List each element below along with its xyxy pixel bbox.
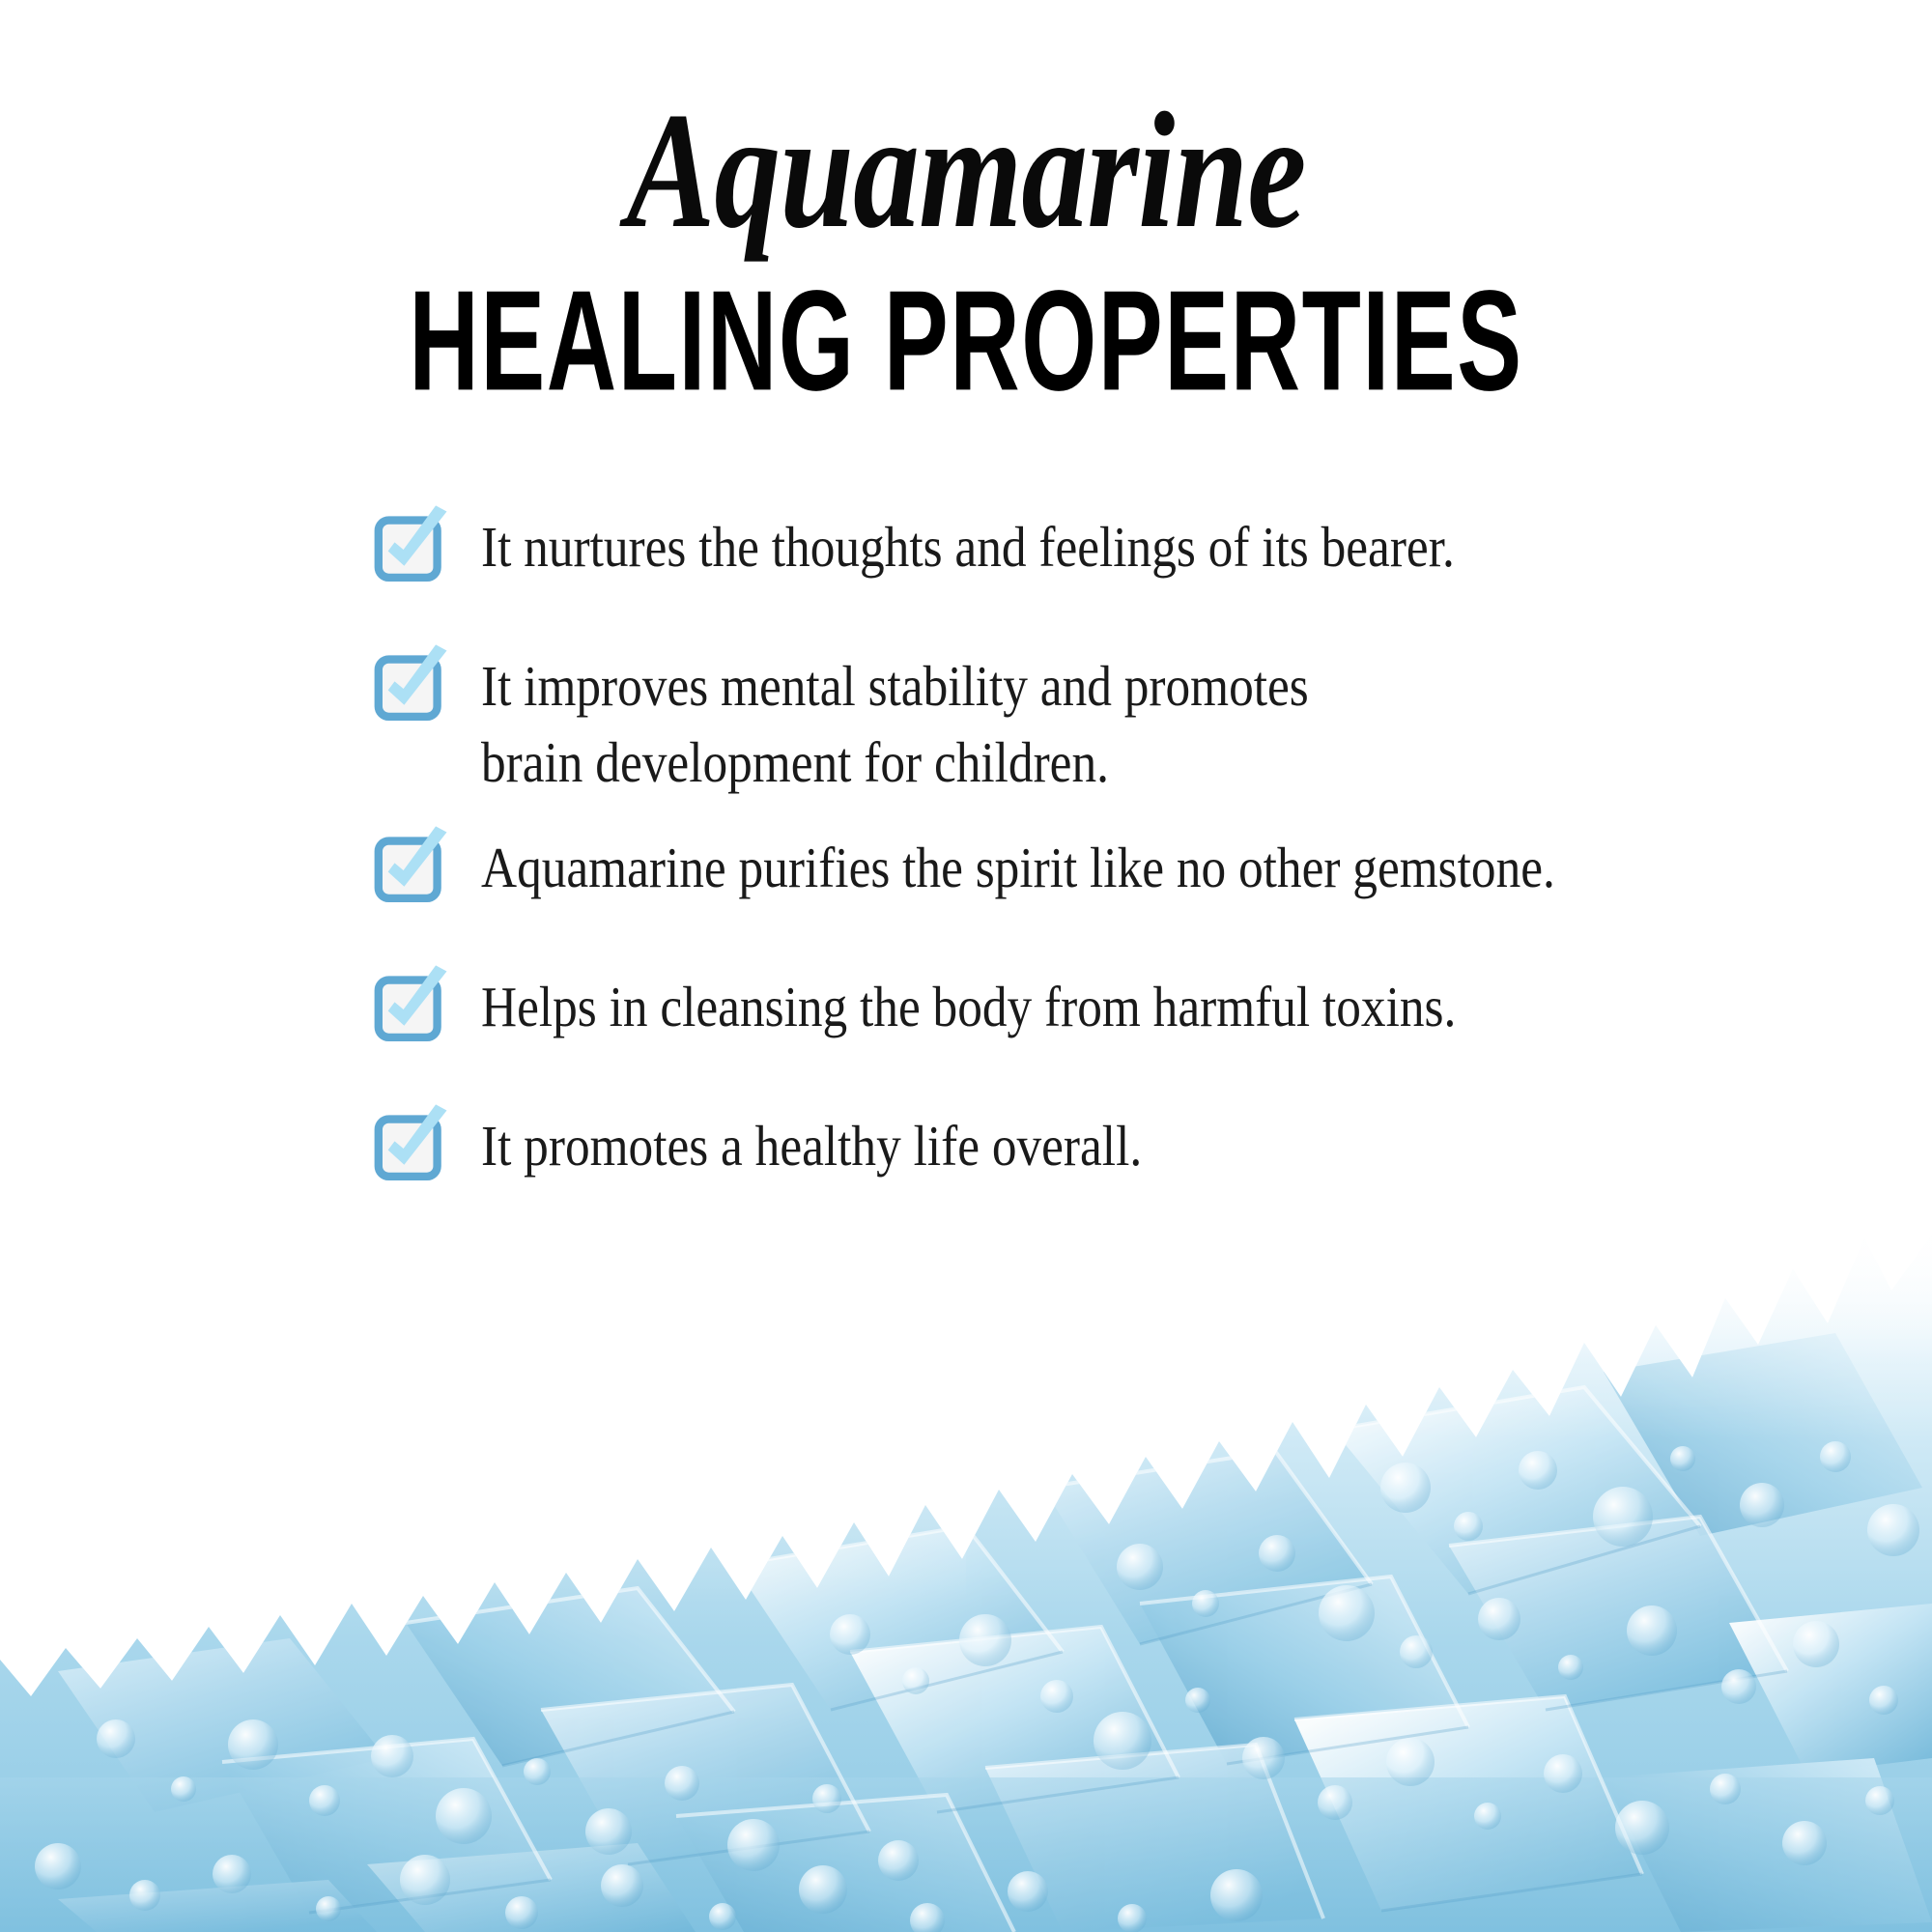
healing-properties-list: It nurtures the thoughts and feelings of… — [375, 507, 1882, 1185]
list-item: Aquamarine purifies the spirit like no o… — [375, 828, 1882, 907]
list-item-text: Aquamarine purifies the spirit like no o… — [481, 828, 1555, 906]
list-item-text: It improves mental stability and promote… — [481, 646, 1309, 801]
header: Aquamarine HEALING PROPERTIES — [0, 93, 1932, 405]
checkbox-checked-icon[interactable] — [375, 652, 448, 725]
list-item-text: It nurtures the thoughts and feelings of… — [481, 507, 1455, 585]
checkbox-checked-icon[interactable] — [375, 834, 448, 907]
list-item: Helps in cleansing the body from harmful… — [375, 967, 1882, 1046]
checkbox-checked-icon[interactable] — [375, 513, 448, 586]
poster-canvas: Aquamarine HEALING PROPERTIES It nurture… — [0, 0, 1932, 1932]
list-item: It improves mental stability and promote… — [375, 646, 1882, 801]
list-item: It promotes a healthy life overall. — [375, 1106, 1882, 1185]
list-item: It nurtures the thoughts and feelings of… — [375, 507, 1882, 586]
checkbox-checked-icon[interactable] — [375, 973, 448, 1046]
page-subtitle: HEALING PROPERTIES — [232, 270, 1700, 412]
list-item-text: It promotes a healthy life overall. — [481, 1106, 1142, 1184]
page-title: Aquamarine — [193, 93, 1739, 250]
list-item-text: Helps in cleansing the body from harmful… — [481, 967, 1456, 1045]
checkbox-checked-icon[interactable] — [375, 1112, 448, 1185]
ice-cubes-photo — [0, 1198, 1932, 1932]
